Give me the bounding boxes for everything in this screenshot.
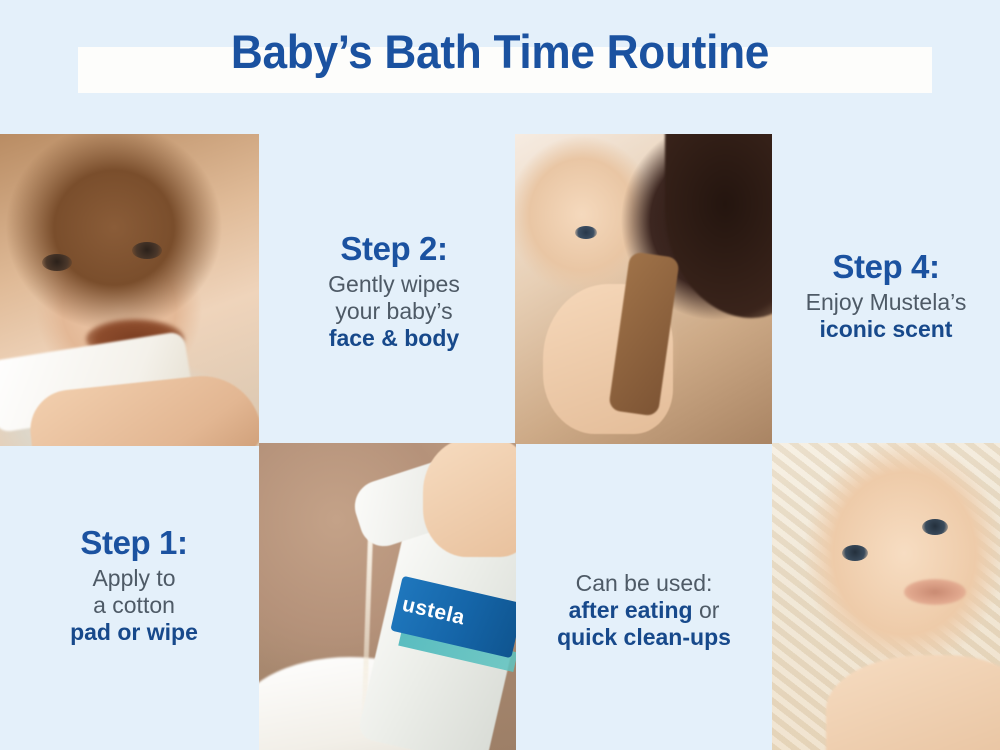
step-2-line-2: your baby’s xyxy=(270,298,518,325)
baby-eye xyxy=(575,226,597,239)
usage-note-line-2: quick clean-ups xyxy=(516,624,772,651)
step-2-line-1: Gently wipes xyxy=(270,271,518,298)
mother-hair xyxy=(665,134,772,318)
step-4-line-1: Enjoy Mustela’s xyxy=(772,289,1000,316)
step-1-line-2: a cotton xyxy=(10,592,258,619)
step-2-bold-line: face & body xyxy=(270,325,518,352)
text-block-usage-note: Can be used: after eating or quick clean… xyxy=(516,570,772,651)
photo-mother-baby xyxy=(515,134,772,444)
step-1-heading: Step 1: xyxy=(10,524,258,562)
photo-baby-towel xyxy=(772,443,1000,750)
page-title: Baby’s Bath Time Routine xyxy=(30,26,970,78)
step-4-bold-line: iconic scent xyxy=(772,316,1000,343)
baby-eye-right xyxy=(922,519,948,535)
baby-eye-left xyxy=(842,545,868,561)
photo-baby-wiped xyxy=(0,134,259,446)
text-block-step-4: Step 4: Enjoy Mustela’s iconic scent xyxy=(772,248,1000,343)
hand-fingers xyxy=(423,443,516,557)
usage-note-line-1-plain: or xyxy=(693,597,720,623)
step-4-heading: Step 4: xyxy=(772,248,1000,286)
baby-body xyxy=(826,655,1000,750)
baby-eye-left xyxy=(42,254,72,271)
step-1-line-1: Apply to xyxy=(10,565,258,592)
text-block-step-2: Step 2: Gently wipes your baby’s face & … xyxy=(270,230,518,352)
usage-note-line-1: after eating or xyxy=(516,597,772,624)
text-block-step-1: Step 1: Apply to a cotton pad or wipe xyxy=(10,524,258,646)
usage-note-heading: Can be used: xyxy=(516,570,772,597)
step-1-bold-line: pad or wipe xyxy=(10,619,258,646)
baby-eye-right xyxy=(132,242,162,259)
usage-note-line-1-bold: after eating xyxy=(569,597,693,623)
photo-mustela-bottle: ustela xyxy=(259,443,516,750)
baby-mouth xyxy=(904,579,966,605)
infographic-canvas: Baby’s Bath Time Routine ustela Step 2: … xyxy=(0,0,1000,750)
step-2-heading: Step 2: xyxy=(270,230,518,268)
